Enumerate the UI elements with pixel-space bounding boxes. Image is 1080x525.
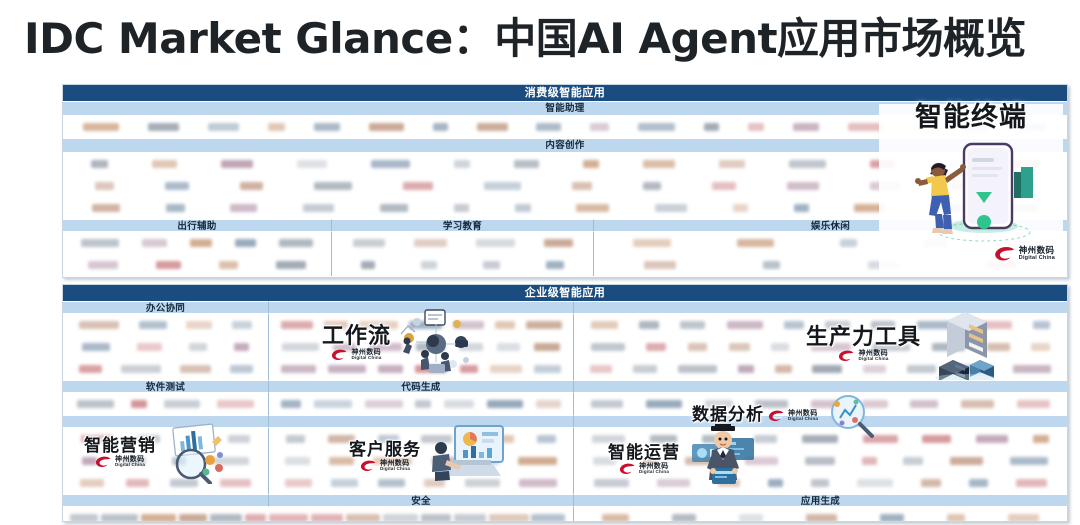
enterprise-band-row3-right [573, 415, 1067, 428]
vendor-logo [81, 435, 113, 443]
vendor-logo [81, 239, 119, 247]
vendor-logo [862, 457, 877, 465]
vendor-logo [643, 160, 675, 168]
vendor-logo [907, 365, 936, 373]
vendor-logo [811, 343, 851, 351]
vendor-logo [369, 123, 404, 131]
logo-row [269, 428, 573, 450]
consumer-section-panel: 消费级智能应用 智能助理 内容创作 出行辅助 学习教育 娱乐休闲 [62, 84, 1068, 278]
vendor-logo [331, 479, 358, 487]
logo-row [269, 393, 573, 415]
vendor-logo [976, 435, 1008, 443]
vendor-logo [484, 182, 521, 190]
vendor-logo [415, 365, 447, 373]
consumer-category-travel[interactable]: 出行辅助 [63, 219, 331, 232]
logo-row [269, 314, 573, 336]
logo-row [63, 393, 268, 415]
vendor-logo [537, 435, 556, 443]
enterprise-logo-grid-4 [63, 507, 1067, 522]
enterprise-category-code-generation[interactable]: 代码生成 [268, 380, 573, 393]
logo-cell-marketing [63, 428, 268, 494]
vendor-logo [957, 365, 992, 373]
vendor-logo [840, 239, 857, 247]
vendor-logo [643, 182, 661, 190]
vendor-logo [371, 160, 410, 168]
vendor-logo [424, 479, 445, 487]
vendor-logo [811, 479, 829, 487]
vendor-logo [794, 204, 809, 212]
vendor-logo [733, 204, 748, 212]
vendor-logo [142, 239, 167, 247]
vendor-logo [490, 365, 522, 373]
consumer-band-assistant: 智能助理 [63, 101, 1067, 116]
vendor-logo [190, 239, 212, 247]
logo-row [63, 507, 573, 522]
logo-row [63, 232, 331, 254]
logo-row [63, 153, 1067, 175]
vendor-logo [353, 239, 385, 247]
vendor-logo [152, 160, 177, 168]
vendor-logo [495, 321, 515, 329]
vendor-logo [969, 479, 988, 487]
vendor-logo [633, 365, 657, 373]
vendor-logo [230, 365, 253, 373]
vendor-logo [285, 457, 310, 465]
vendor-logo [712, 182, 736, 190]
vendor-logo [164, 400, 200, 408]
vendor-logo [643, 457, 658, 465]
enterprise-band-row-1: 办公协同 [63, 301, 1067, 314]
vendor-logo [1007, 204, 1038, 212]
vendor-logo [1016, 479, 1047, 487]
vendor-logo [281, 400, 301, 408]
logo-cell-productivity [573, 314, 1067, 380]
vendor-logo [444, 400, 474, 408]
vendor-logo [787, 182, 819, 190]
vendor-logo [775, 365, 792, 373]
vendor-logo [208, 123, 239, 131]
logo-row [574, 358, 1067, 380]
vendor-logo [590, 123, 609, 131]
vendor-logo [1013, 239, 1028, 247]
vendor-logo [230, 204, 257, 212]
vendor-logo [526, 321, 562, 329]
vendor-logo [433, 123, 448, 131]
vendor-logo [91, 160, 108, 168]
vendor-logo [672, 514, 696, 522]
vendor-logo [738, 365, 754, 373]
vendor-logo [602, 514, 629, 522]
enterprise-logo-grid-3 [63, 428, 1067, 494]
vendor-logo [403, 182, 433, 190]
vendor-logo [655, 204, 687, 212]
vendor-logo [83, 123, 119, 131]
vendor-logo [101, 514, 138, 522]
vendor-logo [189, 343, 207, 351]
logo-row [269, 450, 573, 472]
vendor-logo [82, 343, 110, 351]
vendor-logo [592, 435, 625, 443]
logo-row [63, 175, 1067, 197]
vendor-logo [370, 343, 402, 351]
vendor-logo [727, 321, 763, 329]
vendor-logo [285, 479, 312, 487]
logo-row [332, 254, 593, 276]
vendor-logo [986, 261, 1017, 269]
vendor-logo [415, 400, 431, 408]
enterprise-band-row1-right [573, 301, 1067, 314]
vendor-logo [414, 239, 447, 247]
logo-cell-codegen [268, 393, 573, 415]
vendor-logo [234, 343, 249, 351]
vendor-logo [276, 261, 306, 269]
vendor-logo [219, 261, 238, 269]
vendor-logo [924, 239, 947, 247]
vendor-logo [987, 343, 1010, 351]
consumer-band-content: 内容创作 [63, 138, 1067, 153]
vendor-logo [286, 435, 305, 443]
vendor-logo [121, 365, 161, 373]
vendor-logo [131, 400, 147, 408]
vendor-logo [482, 457, 499, 465]
vendor-logo [380, 204, 408, 212]
vendor-logo [1013, 365, 1051, 373]
vendor-logo [88, 261, 118, 269]
vendor-logo [546, 261, 564, 269]
enterprise-section-panel: 企业级智能应用 办公协同 软件测试 代码生成 [62, 284, 1068, 522]
vendor-logo [870, 160, 895, 168]
consumer-category-band-row: 出行辅助 学习教育 娱乐休闲 [63, 219, 1067, 232]
vendor-logo [591, 400, 623, 408]
vendor-logo [793, 123, 819, 131]
logo-row [63, 197, 1067, 219]
enterprise-band-row3-mid [268, 415, 573, 428]
logo-row [63, 450, 268, 472]
enterprise-logo-grid-2 [63, 393, 1067, 415]
vendor-logo [576, 204, 609, 212]
vendor-logo [939, 160, 968, 168]
vendor-logo [719, 160, 745, 168]
vendor-logo [771, 343, 789, 351]
vendor-logo [729, 343, 750, 351]
logo-row [594, 232, 1067, 254]
vendor-logo [477, 123, 508, 131]
vendor-logo [92, 204, 120, 212]
vendor-logo [591, 343, 625, 351]
vendor-logo [454, 160, 470, 168]
vendor-logo [314, 400, 352, 408]
vendor-logo [378, 365, 403, 373]
vendor-logo [903, 457, 923, 465]
logo-cell-education [331, 232, 593, 276]
vendor-logo [718, 479, 740, 487]
vendor-logo [139, 321, 167, 329]
consumer-category-education[interactable]: 学习教育 [331, 219, 593, 232]
vendor-logo [812, 365, 842, 373]
logo-row [63, 116, 1067, 138]
logo-cell-appgen [573, 507, 1067, 522]
logo-row [63, 358, 268, 380]
vendor-logo [745, 457, 778, 465]
vendor-logo [217, 400, 254, 408]
enterprise-logo-grid-1 [63, 314, 1067, 380]
vendor-logo [978, 321, 1012, 329]
vendor-logo [862, 400, 888, 408]
logo-row [63, 336, 268, 358]
vendor-logo [737, 239, 774, 247]
vendor-logo [825, 321, 850, 329]
vendor-logo [432, 457, 463, 465]
consumer-category-entertainment[interactable]: 娱乐休闲 [593, 219, 1067, 232]
vendor-logo [460, 365, 478, 373]
vendor-logo [416, 343, 445, 351]
logo-cell-data-analysis [573, 393, 1067, 415]
vendor-logo [221, 160, 253, 168]
vendor-logo [871, 321, 895, 329]
vendor-logo [702, 435, 730, 443]
enterprise-category-app-generation[interactable]: 应用生成 [573, 494, 1067, 507]
enterprise-category-office[interactable]: 办公协同 [63, 301, 268, 314]
vendor-logo [185, 435, 203, 443]
logo-row [574, 314, 1067, 336]
logo-cell-operations [573, 428, 1067, 494]
vendor-logo [1031, 343, 1050, 351]
consumer-section-header: 消费级智能应用 [63, 85, 1067, 101]
enterprise-category-software-testing[interactable]: 软件测试 [63, 380, 268, 393]
logo-row [574, 450, 1067, 472]
vendor-logo [1016, 182, 1036, 190]
vendor-logo [966, 123, 988, 131]
vendor-logo [297, 160, 327, 168]
vendor-logo [806, 514, 837, 522]
vendor-logo [166, 204, 185, 212]
vendor-logo [583, 160, 599, 168]
vendor-logo [633, 239, 671, 247]
vendor-logo [638, 123, 675, 131]
vendor-logo [910, 400, 938, 408]
vendor-logo [346, 514, 380, 522]
vendor-logo [519, 479, 557, 487]
vendor-logo [228, 435, 250, 443]
vendor-logo [1017, 400, 1050, 408]
vendor-logo [409, 321, 442, 329]
enterprise-band-row-3 [63, 415, 1067, 428]
vendor-logo [950, 457, 983, 465]
vendor-logo [534, 365, 561, 373]
vendor-logo [487, 400, 523, 408]
vendor-logo [165, 182, 189, 190]
vendor-logo [739, 514, 763, 522]
enterprise-band-row1-mid [268, 301, 573, 314]
vendor-logo [489, 514, 529, 522]
vendor-logo [534, 343, 560, 351]
vendor-logo [421, 514, 451, 522]
vendor-logo [688, 343, 707, 351]
vendor-logo [213, 457, 249, 465]
vendor-logo [126, 479, 149, 487]
vendor-logo [644, 261, 676, 269]
vendor-logo [811, 400, 839, 408]
logo-cell-customer-service [268, 428, 573, 494]
logo-row [269, 358, 573, 380]
vendor-logo [220, 479, 251, 487]
vendor-logo [235, 239, 256, 247]
vendor-logo [763, 261, 780, 269]
vendor-logo [497, 343, 520, 351]
vendor-logo [754, 435, 777, 443]
vendor-logo [870, 182, 900, 190]
vendor-logo [705, 400, 733, 408]
vendor-logo [324, 321, 348, 329]
vendor-logo [590, 365, 612, 373]
vendor-logo [868, 261, 899, 269]
vendor-logo [863, 365, 886, 373]
vendor-logo [156, 261, 181, 269]
logo-row [574, 507, 1067, 522]
vendor-logo [518, 457, 557, 465]
logo-row [269, 336, 573, 358]
logo-row [574, 393, 1067, 415]
vendor-logo [314, 182, 352, 190]
vendor-logo [572, 182, 592, 190]
vendor-logo [281, 321, 313, 329]
logo-row [63, 314, 268, 336]
vendor-logo [921, 479, 941, 487]
vendor-logo [854, 204, 885, 212]
consumer-bottom-logo-grid [63, 232, 1067, 276]
logo-cell-travel [63, 232, 331, 276]
vendor-logo [421, 435, 452, 443]
vendor-logo [454, 204, 469, 212]
vendor-logo [279, 239, 313, 247]
vendor-logo [544, 239, 573, 247]
vendor-logo [328, 435, 355, 443]
vendor-logo [536, 123, 561, 131]
vendor-logo [531, 514, 565, 522]
vendor-logo [646, 343, 666, 351]
vendor-logo [179, 514, 207, 522]
vendor-logo [805, 457, 835, 465]
enterprise-band-row3-left [63, 415, 268, 428]
vendor-logo [148, 123, 179, 131]
vendor-logo [245, 514, 266, 522]
vendor-logo [453, 321, 484, 329]
vendor-logo [848, 123, 884, 131]
vendor-logo [459, 343, 483, 351]
vendor-logo [465, 479, 500, 487]
logo-cell-testing [63, 393, 268, 415]
logo-row [594, 254, 1067, 276]
vendor-logo [947, 514, 965, 522]
logo-row [574, 472, 1067, 494]
vendor-logo [1033, 321, 1050, 329]
vendor-logo [365, 400, 403, 408]
vendor-logo [82, 457, 97, 465]
vendor-logo [137, 343, 162, 351]
vendor-logo [141, 514, 176, 522]
logo-row [63, 254, 331, 276]
vendor-logo [373, 457, 412, 465]
vendor-logo [768, 479, 783, 487]
vendor-logo [704, 123, 719, 131]
vendor-logo [863, 435, 898, 443]
vendor-logo [172, 457, 186, 465]
vendor-logo [872, 343, 910, 351]
vendor-logo [680, 321, 705, 329]
logo-row [332, 232, 593, 254]
vendor-logo [79, 365, 102, 373]
vendor-logo [1012, 160, 1039, 168]
enterprise-band-row2-right [573, 380, 1067, 393]
vendor-logo [755, 400, 788, 408]
vendor-logo [180, 365, 211, 373]
page-title: IDC Market Glance：中国AI Agent应用市场概览 [24, 13, 1064, 65]
vendor-logo [268, 123, 285, 131]
logo-cell-security [63, 507, 573, 522]
enterprise-category-security[interactable]: 安全 [268, 494, 573, 507]
vendor-logo [359, 321, 398, 329]
logo-row [269, 472, 573, 494]
vendor-logo [281, 365, 316, 373]
vendor-logo [328, 365, 366, 373]
vendor-logo [333, 343, 356, 351]
vendor-logo [476, 239, 515, 247]
vendor-logo [748, 123, 764, 131]
vendor-logo [77, 400, 114, 408]
vendor-logo [186, 321, 212, 329]
vendor-logo [961, 400, 994, 408]
vendor-logo [514, 160, 539, 168]
vendor-logo [951, 182, 965, 190]
vendor-logo [685, 457, 719, 465]
vendor-logo [802, 435, 838, 443]
vendor-logo [124, 457, 146, 465]
vendor-logo [383, 514, 418, 522]
vendor-logo [931, 204, 961, 212]
vendor-logo [138, 435, 160, 443]
vendor-logo [282, 343, 319, 351]
vendor-logo [594, 479, 629, 487]
enterprise-band-row-4: 安全 应用生成 [63, 494, 1067, 507]
vendor-logo [1017, 123, 1046, 131]
vendor-logo [917, 321, 957, 329]
vendor-logo [95, 182, 114, 190]
vendor-logo [329, 457, 354, 465]
vendor-logo [70, 514, 98, 522]
vendor-logo [593, 457, 616, 465]
vendor-logo [378, 479, 405, 487]
vendor-logo [784, 321, 804, 329]
logo-cell-office [63, 314, 268, 380]
vendor-logo [378, 435, 399, 443]
vendor-logo [932, 343, 965, 351]
vendor-logo [1033, 435, 1049, 443]
vendor-logo [80, 479, 104, 487]
enterprise-band-row4-left [63, 494, 268, 507]
vendor-logo [483, 261, 500, 269]
vendor-logo [657, 479, 690, 487]
vendor-logo [1008, 514, 1039, 522]
vendor-logo [857, 479, 893, 487]
vendor-logo [536, 400, 561, 408]
vendor-logo [922, 435, 951, 443]
vendor-logo [421, 261, 437, 269]
vendor-logo [170, 479, 198, 487]
vendor-logo [789, 160, 826, 168]
vendor-logo [678, 365, 717, 373]
vendor-logo [232, 321, 252, 329]
logo-cell-entertainment [593, 232, 1067, 276]
